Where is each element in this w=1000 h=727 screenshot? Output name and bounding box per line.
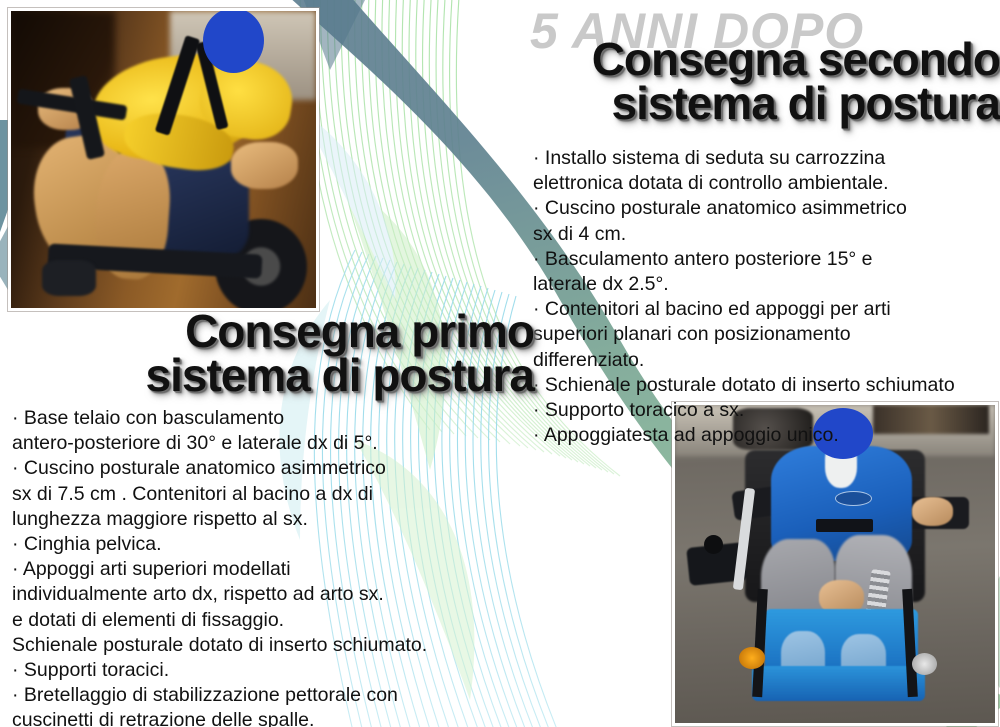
bullet-line: sx di 7.5 cm . Contenitori al bacino a d… [12,482,427,507]
photo-second-posture-system [672,402,998,726]
photo-one-footrest [42,260,97,296]
bullet-line: Schienale posturale dotato di inserto sc… [12,633,427,658]
bullet-line: lunghezza maggiore rispetto al sx. [12,507,427,532]
title-second-posture-system: Consegna secondo sistema di postura [444,38,1000,125]
bullet-line: differenziato. [533,348,955,373]
photo-two-hand-right [912,497,954,526]
bullet-line: individualmente arto dx, rispetto ad art… [12,582,427,607]
bullet-line: · Supporto toracico a sx. [533,398,955,423]
bullet-line: · Schienale posturale dotato di inserto … [533,373,955,398]
bullet-line: sx di 4 cm. [533,222,955,247]
bullet-line: · Installo sistema di seduta su carrozzi… [533,146,955,171]
photo-two-footplate [752,666,925,701]
title-left-line-2: sistema di postura [4,354,534,398]
bullet-line: · Basculamento antero posteriore 15° e [533,247,955,272]
bullet-line: · Cuscino posturale anatomico asimmetric… [533,196,955,221]
bullet-line: laterale dx 2.5°. [533,272,955,297]
bullet-list-second-system: · Installo sistema di seduta su carrozzi… [533,146,955,448]
slide-canvas: 5 ANNI DOPO [0,0,1000,727]
photo-two-jacket-logo [835,491,872,506]
photo-first-posture-system [8,8,319,311]
bullet-line: superiori planari con posizionamento [533,322,955,347]
title-first-posture-system: Consegna primo sistema di postura [4,310,534,397]
bullet-line: elettronica dotata di controllo ambienta… [533,171,955,196]
bullet-line: cuscinetti di retrazione delle spalle. [12,708,427,727]
photo-two-indicator-light-left [739,647,765,669]
bullet-list-first-system: · Base telaio con basculamento antero-po… [12,406,427,727]
bullet-line: · Appoggi arti superiori modellati [12,557,427,582]
bullet-line: · Contenitori al bacino ed appoggi per a… [533,297,955,322]
title-right-line-2: sistema di postura [444,82,1000,126]
bullet-line: · Cuscino posturale anatomico asimmetric… [12,456,427,481]
photo-two-pelvic-belt [816,519,874,532]
bullet-line: · Cinghia pelvica. [12,532,427,557]
bullet-line: e dotati di elementi di fissaggio. [12,608,427,633]
photo-one-hand-right [231,142,298,190]
photo-one-content [11,11,316,308]
bullet-line: · Appoggiatesta ad appoggio unico. [533,423,955,448]
title-left-line-1: Consegna primo [4,310,534,354]
bullet-line: · Bretellaggio di stabilizzazione pettor… [12,683,427,708]
bullet-line: · Base telaio con basculamento [12,406,427,431]
bullet-line: antero-posteriore di 30° e laterale dx d… [12,431,427,456]
bullet-line: · Supporti toracici. [12,658,427,683]
photo-two-content [675,405,995,723]
title-right-line-1: Consegna secondo [444,38,1000,82]
